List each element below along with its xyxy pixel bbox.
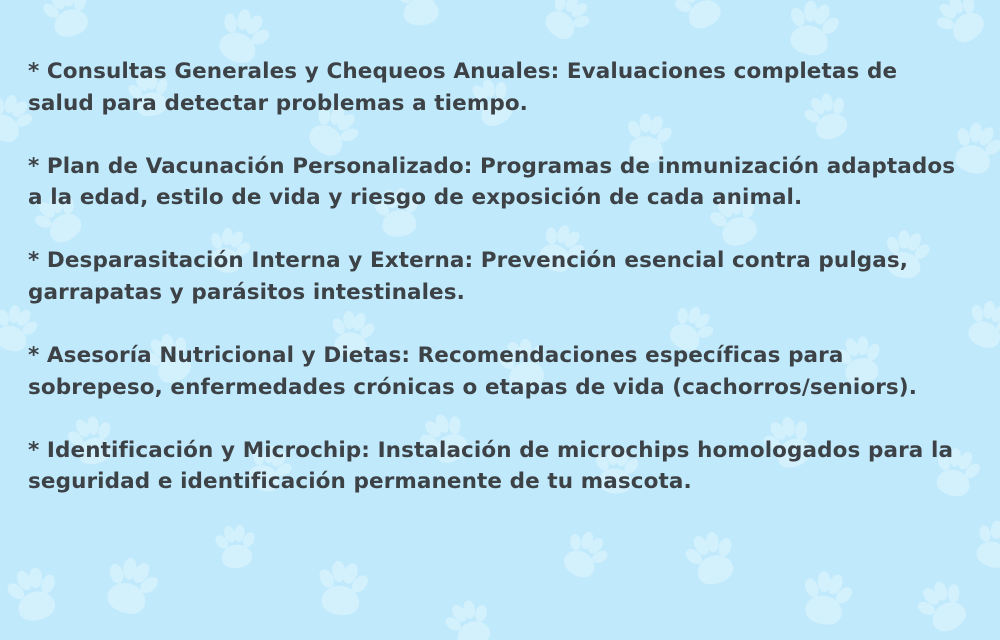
list-item: * Consultas Generales y Chequeos Anuales… [28,56,970,120]
list-item: * Identificación y Microchip: Instalació… [28,435,970,499]
services-list: * Consultas Generales y Chequeos Anuales… [0,0,1000,498]
list-item: * Desparasitación Interna y Externa: Pre… [28,245,970,309]
services-card: * Consultas Generales y Chequeos Anuales… [0,0,1000,640]
list-item: * Asesoría Nutricional y Dietas: Recomen… [28,340,970,404]
list-item: * Plan de Vacunación Personalizado: Prog… [28,151,970,215]
